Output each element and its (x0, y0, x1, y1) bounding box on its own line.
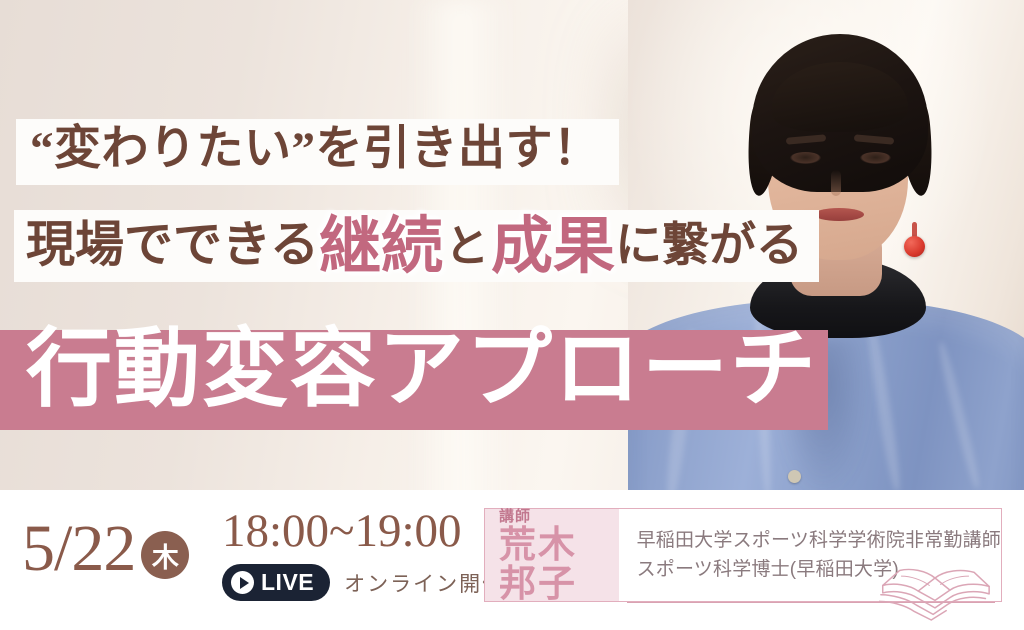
live-row: LIVE オンライン開催 (222, 564, 505, 601)
portrait-nose (831, 170, 841, 196)
speaker-name-cell: 講師 荒木 邦子 (485, 509, 619, 601)
day-of-week-badge: 木 (141, 531, 189, 579)
speaker-credential-2: スポーツ科学博士(早稲田大学) (637, 555, 1001, 584)
live-label: LIVE (261, 569, 314, 596)
portrait-eye (790, 152, 821, 164)
play-circle-icon (231, 571, 254, 594)
event-date: 5/22 木 (22, 516, 189, 582)
speaker-panel: 講師 荒木 邦子 早稲田大学スポーツ科学学術院非常勤講師 スポーツ科学博士(早稲… (484, 508, 1002, 602)
play-triangle-icon (240, 577, 249, 589)
headline-conjunction: と (443, 224, 491, 271)
event-time-block: 18:00~19:00 LIVE オンライン開催 (222, 508, 505, 601)
portrait-earring (904, 236, 925, 257)
headline-accent-keizoku: 継続 (319, 220, 443, 276)
portrait-lips (814, 208, 864, 221)
speaker-credentials-cell: 早稲田大学スポーツ科学学術院非常勤講師 スポーツ科学博士(早稲田大学) (619, 509, 1001, 601)
page-title: 行動変容アプローチ (26, 318, 818, 421)
time-value: 18:00~19:00 (222, 508, 505, 555)
headline-line-2-prefix: 現場でできる (26, 219, 319, 271)
portrait-shirt-button (788, 470, 801, 483)
headline-line-2: 現場でできる 継続 と 成果 に繋がる (14, 210, 819, 282)
live-badge: LIVE (222, 564, 330, 601)
headline-line-2-suffix: に繋がる (615, 222, 803, 272)
speaker-credential-1: 早稲田大学スポーツ科学学術院非常勤講師 (637, 526, 1001, 555)
date-value: 5/22 (22, 516, 135, 582)
webinar-poster: “変わりたい”を引き出す！ 現場でできる 継続 と 成果 に繋がる 行動変容アプ… (0, 0, 1024, 630)
portrait-eye (860, 152, 891, 164)
headline-accent-seika: 成果 (491, 220, 615, 276)
credential-underline (627, 602, 995, 604)
speaker-role-label: 講師 (499, 505, 619, 526)
speaker-name: 荒木 邦子 (499, 527, 619, 605)
headline-line-1: “変わりたい”を引き出す！ (16, 119, 619, 185)
online-format-label: オンライン開催 (344, 568, 505, 598)
